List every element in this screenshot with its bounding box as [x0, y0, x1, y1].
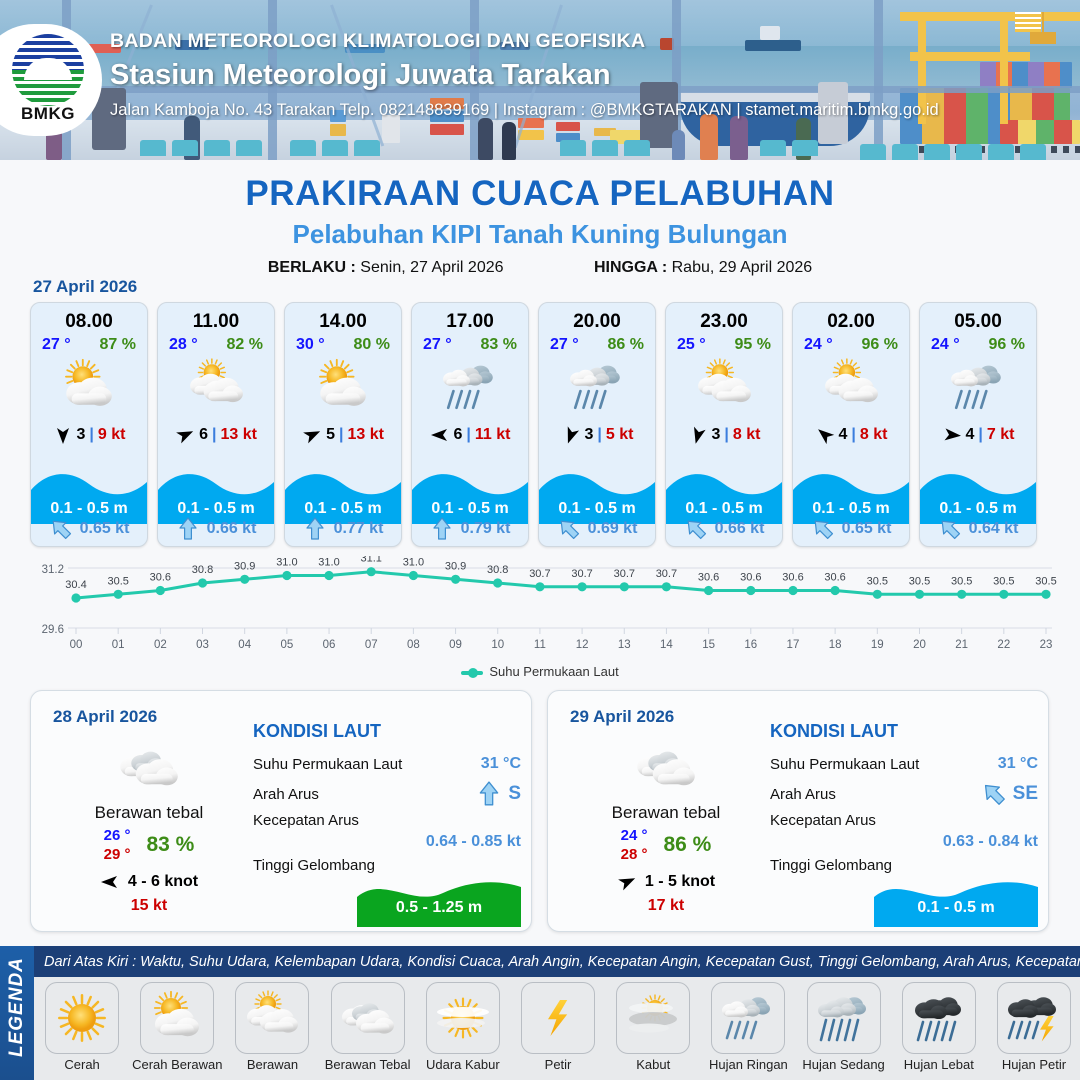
current-speed-label: Kecepatan Arus [770, 812, 876, 829]
hour-current-speed: 0.64 kt [969, 520, 1019, 538]
svg-text:01: 01 [112, 639, 125, 651]
wind-direction-arrow-icon [175, 425, 195, 445]
current-direction-arrow-icon [684, 517, 708, 541]
legend-item: Hujan Petir [988, 982, 1080, 1072]
legend-item: Cerah [36, 982, 128, 1072]
wind-direction-arrow-icon [561, 425, 581, 445]
kabut-icon [616, 982, 690, 1054]
wind-direction-arrow-icon [688, 425, 708, 445]
hour-wave-height: 0.1 - 0.5 m [920, 500, 1036, 518]
hour-wave-height: 0.1 - 0.5 m [158, 500, 274, 518]
crane-cable [1042, 12, 1044, 34]
legend-item: Hujan Sedang [798, 982, 890, 1072]
daily-date: 29 April 2026 [570, 707, 674, 727]
seat-illustration [892, 144, 918, 160]
hujan-ringan-icon [711, 982, 785, 1054]
svg-text:16: 16 [744, 639, 757, 651]
sea-condition-title: KONDISI LAUT [253, 721, 521, 742]
bmkg-logo: BMKG [0, 24, 102, 136]
valid-to-value: Rabu, 29 April 2026 [672, 259, 813, 276]
berawan-tebal-icon [331, 982, 405, 1054]
hour-temperature: 27 ° [423, 336, 452, 354]
hour-temperature: 24 ° [931, 336, 960, 354]
cerah-berawan-icon [285, 356, 401, 418]
sst-value: 31 °C [481, 755, 521, 773]
legend-item-label: Udara Kabur [417, 1057, 509, 1072]
bmkg-logo-text: BMKG [5, 104, 91, 124]
legend-item-label: Berawan Tebal [322, 1057, 414, 1072]
daily-wave-height: 0.1 - 0.5 m [874, 899, 1038, 917]
hour-current-speed: 0.65 kt [842, 520, 892, 538]
container-stack [980, 62, 1072, 88]
hour-humidity: 96 % [989, 336, 1025, 354]
daily-wind-speed: 1 - 5 knot [645, 873, 715, 891]
crane-spreader [1015, 12, 1041, 32]
hour-gust: 13 kt [220, 426, 256, 444]
person-illustration [502, 122, 516, 160]
legend-item: Hujan Ringan [702, 982, 794, 1072]
daily-humidity: 86 % [663, 833, 711, 857]
daily-wave-graphic: 0.5 - 1.25 m [357, 877, 521, 927]
valid-to-label: HINGGA : [594, 259, 667, 276]
svg-text:30.9: 30.9 [445, 560, 466, 572]
daily-wave-height: 0.5 - 1.25 m [357, 899, 521, 917]
legend-note: Dari Atas Kiri : Waktu, Suhu Udara, Kele… [34, 954, 1080, 970]
crane-leg [1000, 14, 1008, 124]
svg-text:30.5: 30.5 [107, 575, 128, 587]
daily-wave-graphic: 0.1 - 0.5 m [874, 877, 1038, 927]
daily-forecast-row: 28 April 2026 Berawan tebal [30, 690, 1050, 932]
legend-section: LEGENDA Dari Atas Kiri : Waktu, Suhu Uda… [0, 946, 1080, 1080]
wind-direction-arrow-icon [942, 425, 962, 445]
sst-chart-svg: 31.229.600010203040506070809101112131415… [22, 556, 1058, 660]
wind-separator: | [851, 426, 855, 444]
person-illustration [672, 130, 685, 160]
seat-illustration [204, 140, 230, 156]
svg-text:30.6: 30.6 [150, 572, 171, 584]
valid-from-label: BERLAKU : [268, 259, 356, 276]
hour-wave-height: 0.1 - 0.5 m [666, 500, 782, 518]
hour-wind-speed: 5 [326, 426, 335, 444]
daily-condition: Berawan tebal [566, 803, 766, 823]
container-stack [1000, 120, 1080, 144]
daily-wind: 4 - 6 knot [49, 872, 249, 892]
wind-separator: | [724, 426, 728, 444]
cerah-icon [45, 982, 119, 1054]
current-direction-arrow-icon [303, 517, 327, 541]
svg-text:30.5: 30.5 [993, 575, 1014, 587]
hour-current-speed: 0.77 kt [334, 520, 384, 538]
wind-separator: | [466, 426, 470, 444]
hour-wind-speed: 6 [199, 426, 208, 444]
hour-wave-zone: 0.1 - 0.5 m 0.65 kt [31, 468, 147, 546]
hour-temperature: 24 ° [804, 336, 833, 354]
sst-chart: 31.229.600010203040506070809101112131415… [22, 556, 1058, 686]
hour-humidity: 86 % [608, 336, 644, 354]
hour-temperature: 30 ° [296, 336, 325, 354]
legend-note-bar: Dari Atas Kiri : Waktu, Suhu Udara, Kele… [34, 946, 1080, 977]
chart-legend: Suhu Permukaan Laut [22, 664, 1058, 679]
container-illustration [330, 124, 346, 136]
hour-time: 08.00 [31, 311, 147, 333]
current-direction-arrow-icon [557, 517, 581, 541]
wind-direction-arrow-icon [617, 872, 637, 892]
svg-text:23: 23 [1040, 639, 1053, 651]
legend-side-banner: LEGENDA [0, 946, 34, 1080]
daily-condition: Berawan tebal [49, 803, 249, 823]
hour-current: 0.77 kt [285, 517, 401, 541]
hour-wave-height: 0.1 - 0.5 m [793, 500, 909, 518]
legend-item: Kabut [607, 982, 699, 1072]
hour-wave-height: 0.1 - 0.5 m [31, 500, 147, 518]
hour-time: 23.00 [666, 311, 782, 333]
hujan-sedang-icon [807, 982, 881, 1054]
svg-text:10: 10 [491, 639, 504, 651]
person-illustration [700, 114, 718, 160]
hour-current: 0.79 kt [412, 517, 528, 541]
hour-current: 0.65 kt [31, 517, 147, 541]
sst-label: Suhu Permukaan Laut [770, 756, 919, 773]
legend-item: Cerah Berawan [131, 982, 223, 1072]
daily-wind: 1 - 5 knot [566, 872, 766, 892]
daily-gust: 17 kt [566, 897, 766, 915]
header-station-name: Stasiun Meteorologi Juwata Tarakan [110, 59, 939, 92]
svg-text:30.9: 30.9 [234, 560, 255, 572]
daily-temp-max: 28 ° [621, 846, 648, 863]
svg-text:03: 03 [196, 639, 209, 651]
hourly-card: 17.00 27 ° 83 % 6 [411, 302, 529, 547]
legend-item-label: Hujan Ringan [702, 1057, 794, 1072]
hour-wave-zone: 0.1 - 0.5 m 0.69 kt [539, 468, 655, 546]
svg-text:31.0: 31.0 [276, 557, 297, 569]
hour-current: 0.64 kt [920, 517, 1036, 541]
seat-illustration [322, 140, 348, 156]
seat-illustration [956, 144, 982, 160]
svg-text:30.4: 30.4 [65, 579, 86, 591]
hour-wind: 4 | 8 kt [793, 420, 909, 450]
legend-item: Petir [512, 982, 604, 1072]
hour-wave-zone: 0.1 - 0.5 m 0.64 kt [920, 468, 1036, 546]
svg-text:07: 07 [365, 639, 378, 651]
petir-icon [521, 982, 595, 1054]
current-direction-arrow-icon [430, 517, 454, 541]
page-title-block: PRAKIRAAN CUACA PELABUHAN Pelabuhan KIPI… [0, 174, 1080, 277]
daily-card: 28 April 2026 Berawan tebal [30, 690, 532, 932]
daily-gust: 15 kt [49, 897, 249, 915]
hour-wind: 4 | 7 kt [920, 420, 1036, 450]
berawan-icon [793, 356, 909, 418]
hour-wave-zone: 0.1 - 0.5 m 0.66 kt [158, 468, 274, 546]
hour-time: 11.00 [158, 311, 274, 333]
current-direction-value: S [508, 783, 521, 805]
hour-current: 0.69 kt [539, 517, 655, 541]
seat-illustration [1020, 144, 1046, 160]
hour-humidity: 95 % [735, 336, 771, 354]
seat-illustration [592, 140, 618, 156]
svg-text:30.8: 30.8 [192, 564, 213, 576]
hour-gust: 11 kt [475, 426, 511, 444]
hourly-card: 14.00 30 ° 80 % 5 [284, 302, 402, 547]
svg-text:18: 18 [829, 639, 842, 651]
seat-illustration [140, 140, 166, 156]
sea-condition-title: KONDISI LAUT [770, 721, 1038, 742]
svg-text:30.7: 30.7 [656, 568, 677, 580]
hour-wave-zone: 0.1 - 0.5 m 0.66 kt [666, 468, 782, 546]
wind-separator: | [597, 426, 601, 444]
legend-side-title: LEGENDA [6, 961, 28, 1057]
hour-temperature: 27 ° [42, 336, 71, 354]
hour-time: 14.00 [285, 311, 401, 333]
hour-humidity: 87 % [100, 336, 136, 354]
hourly-forecast-row: 08.00 27 ° 87 % 3 [30, 302, 1050, 547]
svg-text:30.5: 30.5 [1035, 575, 1056, 587]
bmkg-logo-mark [12, 34, 84, 106]
legend-item-label: Berawan [226, 1057, 318, 1072]
svg-text:30.5: 30.5 [867, 575, 888, 587]
page-title: PRAKIRAAN CUACA PELABUHAN [0, 174, 1080, 214]
seat-illustration [624, 140, 650, 156]
berawan-icon [666, 356, 782, 418]
svg-text:31.0: 31.0 [403, 557, 424, 569]
hour-gust: 8 kt [733, 426, 761, 444]
hour-time: 17.00 [412, 311, 528, 333]
current-direction-arrow-icon [49, 517, 73, 541]
berawan-icon [235, 982, 309, 1054]
svg-text:30.7: 30.7 [614, 568, 635, 580]
seat-illustration [236, 140, 262, 156]
legend-item-label: Hujan Sedang [798, 1057, 890, 1072]
hujan-ringan-icon [412, 356, 528, 418]
legend-item-label: Cerah Berawan [131, 1057, 223, 1072]
wind-direction-arrow-icon [430, 425, 450, 445]
wave-height-label: Tinggi Gelombang [253, 857, 375, 874]
hour-wind-speed: 3 [585, 426, 594, 444]
daily-temp-min: 24 ° [621, 827, 648, 844]
hour-wind: 3 | 5 kt [539, 420, 655, 450]
svg-text:30.5: 30.5 [951, 575, 972, 587]
hourly-card: 20.00 27 ° 86 % 3 [538, 302, 656, 547]
current-direction-label: Arah Arus [253, 786, 319, 803]
svg-text:09: 09 [449, 639, 462, 651]
hourly-card: 02.00 24 ° 96 % 4 [792, 302, 910, 547]
svg-text:05: 05 [280, 639, 293, 651]
hour-gust: 7 kt [987, 426, 1015, 444]
current-speed-value: 0.64 - 0.85 kt [253, 833, 521, 851]
svg-text:30.6: 30.6 [824, 572, 845, 584]
hour-wind: 3 | 8 kt [666, 420, 782, 450]
wind-direction-arrow-icon [53, 425, 73, 445]
hour-wind-speed: 6 [454, 426, 463, 444]
svg-text:02: 02 [154, 639, 167, 651]
wind-separator: | [89, 426, 93, 444]
hour-wind-speed: 4 [839, 426, 848, 444]
daily-date: 28 April 2026 [53, 707, 157, 727]
svg-text:31.1: 31.1 [360, 556, 381, 565]
legend-item: Hujan Lebat [893, 982, 985, 1072]
legend-item-label: Hujan Lebat [893, 1057, 985, 1072]
hour-gust: 8 kt [860, 426, 888, 444]
current-direction-arrow-icon [811, 517, 835, 541]
hour-current-speed: 0.66 kt [715, 520, 765, 538]
header-organization: BADAN METEOROLOGI KLIMATOLOGI DAN GEOFIS… [110, 30, 939, 53]
hour-current-speed: 0.66 kt [207, 520, 257, 538]
crane-beam [900, 12, 1080, 21]
wind-separator: | [978, 426, 982, 444]
hour-wind: 3 | 9 kt [31, 420, 147, 450]
hour-current: 0.66 kt [158, 517, 274, 541]
hour-wind: 6 | 13 kt [158, 420, 274, 450]
hourly-card: 05.00 24 ° 96 % 4 [919, 302, 1037, 547]
svg-text:30.8: 30.8 [487, 564, 508, 576]
current-direction-arrow-icon [476, 781, 502, 807]
wind-direction-arrow-icon [815, 425, 835, 445]
svg-text:30.6: 30.6 [782, 572, 803, 584]
svg-text:08: 08 [407, 639, 420, 651]
hour-wind-speed: 3 [77, 426, 86, 444]
hour-current-speed: 0.69 kt [588, 520, 638, 538]
current-direction-arrow-icon [981, 781, 1007, 807]
current-direction-arrow-icon [176, 517, 200, 541]
hourly-card: 08.00 27 ° 87 % 3 [30, 302, 148, 547]
svg-text:17: 17 [787, 639, 800, 651]
hour-humidity: 96 % [862, 336, 898, 354]
hour-wind-speed: 3 [712, 426, 721, 444]
sst-value: 31 °C [998, 755, 1038, 773]
svg-text:04: 04 [238, 639, 251, 651]
page-subtitle: Pelabuhan KIPI Tanah Kuning Bulungan [0, 219, 1080, 250]
hujan-ringan-icon [920, 356, 1036, 418]
svg-text:30.6: 30.6 [698, 572, 719, 584]
seat-illustration [354, 140, 380, 156]
hour-time: 20.00 [539, 311, 655, 333]
daily-card: 29 April 2026 Berawan tebal [547, 690, 1049, 932]
current-direction-label: Arah Arus [770, 786, 836, 803]
container-illustration [430, 124, 464, 135]
hour-wind: 6 | 11 kt [412, 420, 528, 450]
berawan-icon [158, 356, 274, 418]
seat-illustration [290, 140, 316, 156]
seat-illustration [792, 140, 818, 156]
hour-current-speed: 0.79 kt [461, 520, 511, 538]
cerah-berawan-icon [140, 982, 214, 1054]
legend-item-label: Petir [512, 1057, 604, 1072]
current-direction-value: SE [1013, 783, 1038, 805]
daily-wind-speed: 4 - 6 knot [128, 873, 198, 891]
wind-direction-arrow-icon [100, 872, 120, 892]
hour-gust: 5 kt [606, 426, 634, 444]
svg-text:20: 20 [913, 639, 926, 651]
legend-item-label: Hujan Petir [988, 1057, 1080, 1072]
wave-height-label: Tinggi Gelombang [770, 857, 892, 874]
legend-item-label: Cerah [36, 1057, 128, 1072]
daily-temp-max: 29 ° [104, 846, 131, 863]
hour-wave-height: 0.1 - 0.5 m [285, 500, 401, 518]
svg-text:12: 12 [576, 639, 589, 651]
sst-label: Suhu Permukaan Laut [253, 756, 402, 773]
legend-item-label: Kabut [607, 1057, 699, 1072]
hour-humidity: 80 % [354, 336, 390, 354]
chart-legend-label: Suhu Permukaan Laut [489, 664, 618, 679]
svg-text:19: 19 [871, 639, 884, 651]
hour-current-speed: 0.65 kt [80, 520, 130, 538]
hour-wave-zone: 0.1 - 0.5 m 0.79 kt [412, 468, 528, 546]
svg-text:00: 00 [70, 639, 83, 651]
hourly-card: 23.00 25 ° 95 % 3 [665, 302, 783, 547]
hour-temperature: 27 ° [550, 336, 579, 354]
hour-wave-zone: 0.1 - 0.5 m 0.65 kt [793, 468, 909, 546]
chart-legend-swatch [461, 671, 483, 675]
berawan-tebal-icon [566, 737, 766, 799]
hour-humidity: 82 % [227, 336, 263, 354]
validity-range: BERLAKU : Senin, 27 April 2026 HINGGA : … [0, 259, 1080, 277]
valid-from-value: Senin, 27 April 2026 [360, 259, 503, 276]
svg-text:30.7: 30.7 [529, 568, 550, 580]
hour-temperature: 28 ° [169, 336, 198, 354]
current-direction-arrow-icon [938, 517, 962, 541]
hour-temperature: 25 ° [677, 336, 706, 354]
hujan-ringan-icon [539, 356, 655, 418]
hour-current: 0.65 kt [793, 517, 909, 541]
svg-text:15: 15 [702, 639, 715, 651]
wind-direction-arrow-icon [302, 425, 322, 445]
hourly-card: 11.00 28 ° 82 % 6 [157, 302, 275, 547]
legend-item: Udara Kabur [417, 982, 509, 1072]
hour-wave-zone: 0.1 - 0.5 m 0.77 kt [285, 468, 401, 546]
daily-temp-min: 26 ° [104, 827, 131, 844]
hour-humidity: 83 % [481, 336, 517, 354]
hour-time: 02.00 [793, 311, 909, 333]
person-illustration [730, 116, 748, 160]
svg-text:31.0: 31.0 [318, 557, 339, 569]
hour-time: 05.00 [920, 311, 1036, 333]
wind-separator: | [212, 426, 216, 444]
legend-item: Berawan Tebal [322, 982, 414, 1072]
hour-wave-height: 0.1 - 0.5 m [412, 500, 528, 518]
daily-humidity: 83 % [146, 833, 194, 857]
svg-text:11: 11 [534, 639, 546, 651]
svg-text:30.7: 30.7 [571, 568, 592, 580]
hour-wave-height: 0.1 - 0.5 m [539, 500, 655, 518]
hour-current: 0.66 kt [666, 517, 782, 541]
svg-text:30.5: 30.5 [909, 575, 930, 587]
hour-wind-speed: 4 [966, 426, 975, 444]
svg-text:14: 14 [660, 639, 673, 651]
berawan-tebal-icon [49, 737, 249, 799]
svg-text:30.6: 30.6 [740, 572, 761, 584]
svg-text:22: 22 [997, 639, 1010, 651]
udara-kabur-icon [426, 982, 500, 1054]
seat-illustration [172, 140, 198, 156]
person-illustration [478, 118, 493, 160]
hourly-date-label: 27 April 2026 [33, 277, 137, 297]
svg-text:06: 06 [323, 639, 336, 651]
hour-wind: 5 | 13 kt [285, 420, 401, 450]
legend-icon-list: Cerah Cerah Berawan [36, 982, 1080, 1072]
svg-text:13: 13 [618, 639, 631, 651]
crane-hook [1030, 32, 1056, 44]
header-banner: BMKG BADAN METEOROLOGI KLIMATOLOGI DAN G… [0, 0, 1080, 160]
hour-gust: 13 kt [347, 426, 383, 444]
hour-gust: 9 kt [98, 426, 126, 444]
current-speed-label: Kecepatan Arus [253, 812, 359, 829]
seat-illustration [860, 144, 886, 160]
seat-illustration [560, 140, 586, 156]
cerah-berawan-icon [31, 356, 147, 418]
current-speed-value: 0.63 - 0.84 kt [770, 833, 1038, 851]
container-illustration [556, 122, 580, 131]
seat-illustration [760, 140, 786, 156]
svg-text:31.2: 31.2 [42, 564, 64, 576]
